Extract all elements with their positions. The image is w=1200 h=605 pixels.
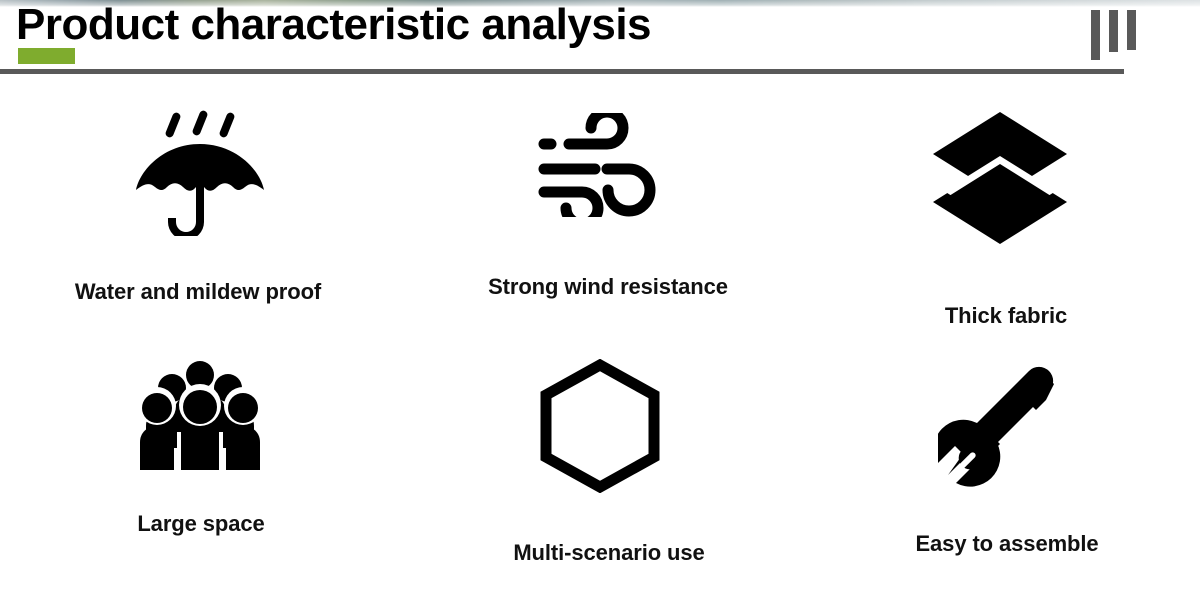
feature-item-strong-wind-resistance: Strong wind resistance — [400, 86, 800, 346]
title-accent-bar — [18, 48, 75, 64]
feature-label: Large space — [137, 511, 264, 537]
feature-grid: Water and mildew proof Strong wind — [0, 86, 1200, 605]
header-divider-rule — [0, 69, 1124, 74]
hexagon-icon — [538, 359, 662, 498]
feature-item-water-and-mildew-proof: Water and mildew proof — [0, 86, 400, 346]
corner-bar-1 — [1091, 10, 1100, 60]
feature-label: Thick fabric — [945, 303, 1067, 329]
feature-label: Strong wind resistance — [488, 274, 728, 300]
wind-icon — [537, 113, 663, 222]
feature-item-large-space: Large space — [0, 346, 400, 605]
feature-item-easy-to-assemble: Easy to assemble — [800, 346, 1200, 605]
page-title: Product characteristic analysis — [16, 0, 651, 53]
feature-label: Easy to assemble — [915, 531, 1098, 557]
feature-label: Multi-scenario use — [513, 540, 704, 566]
umbrella-icon — [134, 106, 266, 241]
layers-icon — [930, 108, 1070, 253]
corner-bar-3 — [1127, 10, 1136, 50]
feature-item-multi-scenario-use: Multi-scenario use — [400, 346, 800, 605]
corner-bar-2 — [1109, 10, 1118, 52]
feature-label: Water and mildew proof — [75, 279, 321, 305]
feature-item-thick-fabric: Thick fabric — [800, 86, 1200, 346]
people-group-icon — [137, 360, 263, 475]
tools-icon — [938, 364, 1062, 493]
corner-decoration-bars — [1091, 10, 1143, 62]
